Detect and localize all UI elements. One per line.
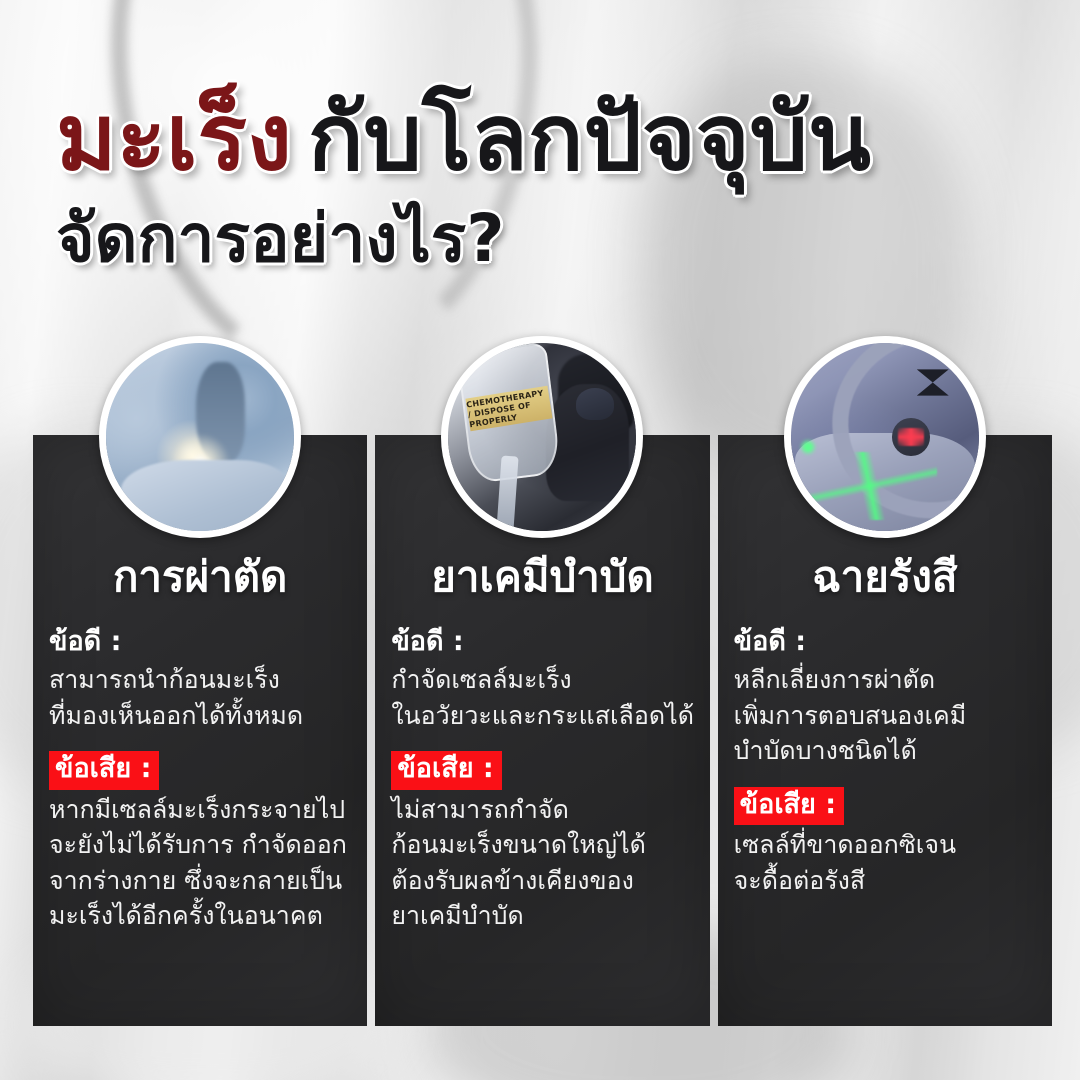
cons-section-surgery: ข้อเสีย : หากมีเซลล์มะเร็งกระจายไป จะยัง… bbox=[49, 751, 351, 933]
cons-label-radiotherapy: ข้อเสีย : bbox=[734, 787, 844, 825]
iv-bag-label: CHEMOTHERAPY / DISPOSE OF PROPERLY bbox=[465, 386, 552, 432]
cons-line: ก้อนมะเร็งขนาดใหญ่ได้ bbox=[391, 827, 693, 863]
pros-line: หลีกเลี่ยงการผ่าตัด bbox=[734, 662, 1036, 698]
cons-body-radiotherapy: เซลล์ที่ขาดออกซิเจน จะดื้อต่อรังสี bbox=[734, 827, 1036, 898]
title-line-2: จัดการอย่างไร? bbox=[56, 206, 1046, 272]
pros-label-surgery: ข้อดี : bbox=[49, 624, 121, 660]
title-keyword-cancer: มะเร็ง bbox=[56, 84, 292, 191]
panel-chemotherapy: CHEMOTHERAPY / DISPOSE OF PROPERLY ยาเคม… bbox=[375, 435, 709, 1026]
cons-line: จะดื้อต่อรังสี bbox=[734, 863, 1036, 899]
cons-line: มะเร็งได้อีกครั้งในอนาคต bbox=[49, 898, 351, 934]
cons-line: จากร่างกาย ซึ่งจะกลายเป็น bbox=[49, 863, 351, 899]
panel-heading-radiotherapy: ฉายรังสี bbox=[734, 553, 1036, 600]
title-line-1: มะเร็งกับโลกปัจจุบัน bbox=[56, 92, 1046, 184]
cons-line: เซลล์ที่ขาดออกซิเจน bbox=[734, 827, 1036, 863]
treatment-panels: การผ่าตัด ข้อดี : สามารถนำก้อนมะเร็ง ที่… bbox=[33, 435, 1052, 1026]
pros-line: ที่มองเห็นออกได้ทั้งหมด bbox=[49, 698, 351, 734]
pros-line: สามารถนำก้อนมะเร็ง bbox=[49, 662, 351, 698]
panel-heading-surgery: การผ่าตัด bbox=[49, 553, 351, 600]
cons-body-chemotherapy: ไม่สามารถกำจัด ก้อนมะเร็งขนาดใหญ่ได้ ต้อ… bbox=[391, 792, 693, 934]
patient-head-scarf bbox=[576, 388, 614, 420]
pros-label-radiotherapy: ข้อดี : bbox=[734, 624, 806, 660]
cons-section-chemotherapy: ข้อเสีย : ไม่สามารถกำจัด ก้อนมะเร็งขนาดใ… bbox=[391, 751, 693, 933]
pros-body-radiotherapy: หลีกเลี่ยงการผ่าตัด เพิ่มการตอบสนองเคมี … bbox=[734, 662, 1036, 769]
pros-body-chemotherapy: กำจัดเซลล์มะเร็ง ในอวัยวะและกระแสเลือดได… bbox=[391, 662, 693, 733]
poster-title-block: มะเร็งกับโลกปัจจุบัน จัดการอย่างไร? bbox=[56, 92, 1046, 272]
cons-line: จะยังไม่ได้รับการ กำจัดออก bbox=[49, 827, 351, 863]
panel-heading-chemotherapy: ยาเคมีบำบัด bbox=[391, 553, 693, 600]
cons-line: หากมีเซลล์มะเร็งกระจายไป bbox=[49, 792, 351, 828]
pros-line: เพิ่มการตอบสนองเคมี bbox=[734, 698, 1036, 734]
cons-body-surgery: หากมีเซลล์มะเร็งกระจายไป จะยังไม่ได้รับก… bbox=[49, 792, 351, 934]
cons-line: ยาเคมีบำบัด bbox=[391, 898, 693, 934]
pros-line: ในอวัยวะและกระแสเลือดได้ bbox=[391, 698, 693, 734]
pros-line: กำจัดเซลล์มะเร็ง bbox=[391, 662, 693, 698]
cons-line: ไม่สามารถกำจัด bbox=[391, 792, 693, 828]
cons-line: ต้องรับผลข้างเคียงของ bbox=[391, 863, 693, 899]
pros-section-chemotherapy: ข้อดี : กำจัดเซลล์มะเร็ง ในอวัยวะและกระแ… bbox=[391, 624, 693, 733]
cons-section-radiotherapy: ข้อเสีย : เซลล์ที่ขาดออกซิเจน จะดื้อต่อร… bbox=[734, 787, 1036, 898]
cons-label-surgery: ข้อเสีย : bbox=[49, 751, 159, 789]
pros-body-surgery: สามารถนำก้อนมะเร็ง ที่มองเห็นออกได้ทั้งห… bbox=[49, 662, 351, 733]
panel-surgery: การผ่าตัด ข้อดี : สามารถนำก้อนมะเร็ง ที่… bbox=[33, 435, 367, 1026]
pros-label-chemotherapy: ข้อดี : bbox=[391, 624, 463, 660]
pros-section-radiotherapy: ข้อดี : หลีกเลี่ยงการผ่าตัด เพิ่มการตอบส… bbox=[734, 624, 1036, 769]
pros-line: บำบัดบางชนิดได้ bbox=[734, 733, 1036, 769]
infographic-poster: มะเร็งกับโลกปัจจุบัน จัดการอย่างไร? การผ… bbox=[0, 0, 1080, 1080]
title-line-1-rest: กับโลกปัจจุบัน bbox=[308, 84, 871, 191]
panel-radiotherapy: ฉายรังสี ข้อดี : หลีกเลี่ยงการผ่าตัด เพิ… bbox=[718, 435, 1052, 1026]
cons-label-chemotherapy: ข้อเสีย : bbox=[391, 751, 501, 789]
pros-section-surgery: ข้อดี : สามารถนำก้อนมะเร็ง ที่มองเห็นออก… bbox=[49, 624, 351, 733]
